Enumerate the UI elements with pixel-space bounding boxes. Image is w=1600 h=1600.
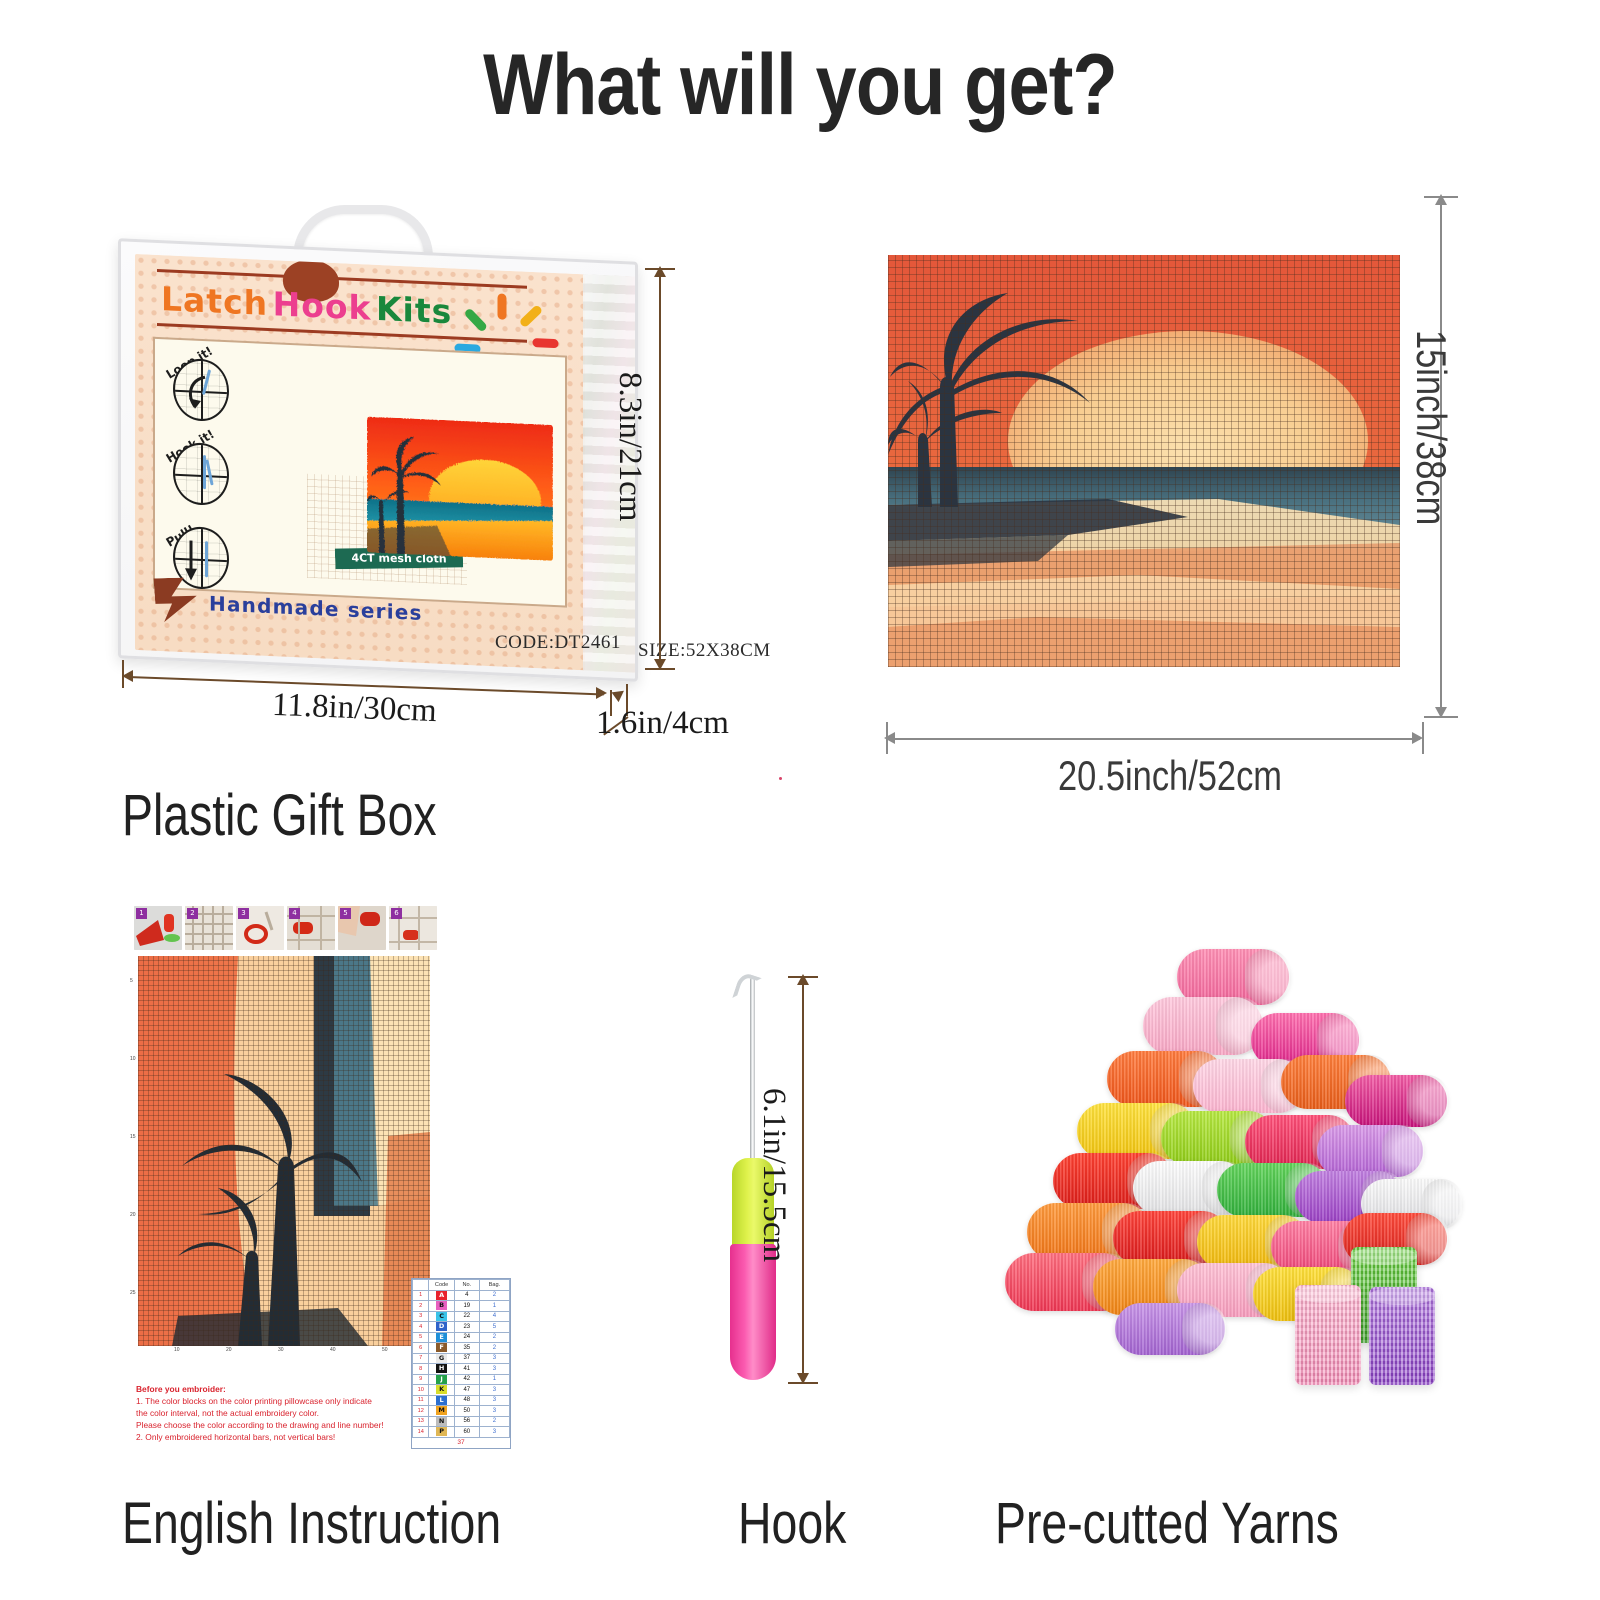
legend-cell-bag: 2 <box>479 1343 509 1354</box>
pinwheel-logo-icon <box>471 287 533 352</box>
legend-color-swatch: L <box>436 1396 447 1405</box>
hook-arrow-up <box>797 974 809 985</box>
thumbnail-badge: 6 <box>391 908 402 919</box>
thumbnail-badge: 1 <box>136 908 147 919</box>
infographic-page: What will you get? Latch Hook Kits <box>0 0 1600 1600</box>
step-thumbnail: 5 <box>338 906 386 950</box>
legend-cell-no: 4 <box>454 1290 479 1301</box>
legend-cell-bag: 1 <box>479 1301 509 1312</box>
before-you-embroider-note: Before you embroider: 1. The color block… <box>136 1384 436 1444</box>
legend-color-swatch: C <box>436 1312 447 1321</box>
legend-color-swatch: A <box>436 1291 447 1300</box>
canvas-height-arrow-down <box>1435 707 1447 718</box>
yarn-standing-bundle <box>1369 1287 1435 1385</box>
box-front-panel: Latch Hook Kits Loop it! <box>135 254 585 670</box>
legend-cell-no: 22 <box>454 1311 479 1322</box>
legend-color-swatch: M <box>436 1406 447 1415</box>
box-height-arrow-down <box>654 659 666 670</box>
step-thumbnail: 3 <box>236 906 284 950</box>
legend-row: 5E242 <box>413 1332 510 1343</box>
box-body: Latch Hook Kits Loop it! <box>118 238 638 682</box>
legend-header-row: Code No. Bag. <box>413 1280 510 1291</box>
legend-color-swatch: F <box>436 1343 447 1352</box>
legend-cell-code: H <box>429 1364 454 1375</box>
step-diagram-hook <box>173 442 229 507</box>
legend-cell-bag: 4 <box>479 1311 509 1322</box>
legend-cell-index: 9 <box>413 1374 429 1385</box>
legend-header-no: No. <box>454 1280 479 1291</box>
hook-handle-grip <box>730 1244 776 1380</box>
gift-box-illustration: Latch Hook Kits Loop it! <box>118 205 638 695</box>
legend-color-swatch: D <box>436 1322 447 1331</box>
legend-cell-index: 4 <box>413 1322 429 1333</box>
legend-cell-bag: 5 <box>479 1322 509 1333</box>
legend-cell-code: F <box>429 1343 454 1354</box>
legend-header-code: Code <box>429 1280 454 1291</box>
legend-cell-no: 41 <box>454 1364 479 1375</box>
caption-pre-cutted-yarns: Pre-cutted Yarns <box>995 1490 1339 1557</box>
box-height-dimension: 8.3in/21cm <box>611 372 648 521</box>
legend-cell-bag: 3 <box>479 1385 509 1396</box>
legend-color-swatch: G <box>436 1354 447 1363</box>
box-height-rule <box>659 272 661 666</box>
pattern-chart-gridlines <box>138 956 430 1346</box>
pre-cutted-yarns-pile <box>965 935 1485 1395</box>
legend-row: 1A42 <box>413 1290 510 1301</box>
legend-cell-index: 8 <box>413 1364 429 1375</box>
hook-length-dimension: 6.1in/15.5cm <box>755 1088 792 1262</box>
legend-cell-no: 56 <box>454 1416 479 1427</box>
legend-row: 8H413 <box>413 1364 510 1375</box>
rug-preview-image <box>367 417 553 561</box>
legend-cell-no: 50 <box>454 1406 479 1417</box>
hook-barb-icon <box>732 971 762 1004</box>
yarn-standing-bundle <box>1295 1285 1361 1385</box>
legend-cell-no: 37 <box>454 1353 479 1364</box>
legend-cell-index: 5 <box>413 1332 429 1343</box>
legend-cell-index: 2 <box>413 1301 429 1312</box>
chart-ruler-bottom: 10 20 30 40 50 <box>138 1346 430 1356</box>
thumbnail-badge: 2 <box>187 908 198 919</box>
canvas-height-arrow-up <box>1435 194 1447 205</box>
legend-color-swatch: B <box>436 1301 447 1310</box>
brand-word-kits: Kits <box>376 289 452 331</box>
before-line: 2. Only embroidered horizontal bars, not… <box>136 1432 436 1444</box>
thumbnail-badge: 4 <box>289 908 300 919</box>
legend-cell-bag: 1 <box>479 1374 509 1385</box>
legend-cell-no: 23 <box>454 1322 479 1333</box>
box-width-dimension: 11.8in/30cm <box>271 687 437 730</box>
caption-english-instruction: English Instruction <box>122 1490 501 1557</box>
legend-cell-index: 1 <box>413 1290 429 1301</box>
canvas-width-dimension: 20.5inch/52cm <box>1058 752 1282 800</box>
legend-color-swatch: K <box>436 1385 447 1394</box>
hook-arrow-down <box>797 1373 809 1384</box>
thumbnail-badge: 5 <box>340 908 351 919</box>
legend-cell-no: 48 <box>454 1395 479 1406</box>
canvas-mesh-gridlines <box>888 255 1400 667</box>
legend-cell-bag: 2 <box>479 1332 509 1343</box>
legend-cell-no: 24 <box>454 1332 479 1343</box>
legend-row: 2B191 <box>413 1301 510 1312</box>
legend-cell-no: 47 <box>454 1385 479 1396</box>
legend-cell-code: J <box>429 1374 454 1385</box>
before-line: the color interval, not the actual embro… <box>136 1408 436 1420</box>
legend-cell-code: G <box>429 1353 454 1364</box>
legend-cell-code: A <box>429 1290 454 1301</box>
legend-cell-code: D <box>429 1322 454 1333</box>
legend-color-swatch: H <box>436 1364 447 1373</box>
legend-cell-code: E <box>429 1332 454 1343</box>
yarn-bundle <box>1115 1303 1225 1355</box>
caption-hook: Hook <box>738 1490 846 1557</box>
zigzag-icon <box>154 577 199 622</box>
stray-speck <box>779 777 782 780</box>
step-thumbnail: 2 <box>185 906 233 950</box>
legend-cell-index: 6 <box>413 1343 429 1354</box>
box-code-label: CODE:DT2461 <box>495 632 621 654</box>
handmade-series-label: Handmade series <box>209 591 423 625</box>
chart-ruler-left: 5 10 15 20 25 <box>130 956 138 1346</box>
pattern-chart: 5 10 15 20 25 10 20 30 40 50 <box>138 956 430 1346</box>
before-line: Please choose the color according to the… <box>136 1420 436 1432</box>
box-width-arrow-left <box>122 670 133 682</box>
legend-cell-bag: 3 <box>479 1353 509 1364</box>
canvas-width-arrow-left <box>884 732 895 744</box>
legend-cell-no: 35 <box>454 1343 479 1354</box>
box-width-arrow-right <box>596 687 607 699</box>
legend-row: 9J421 <box>413 1374 510 1385</box>
caption-gift-box: Plastic Gift Box <box>122 782 437 849</box>
legend-cell-index: 3 <box>413 1311 429 1322</box>
legend-color-swatch: N <box>436 1417 447 1426</box>
legend-cell-bag: 2 <box>479 1290 509 1301</box>
legend-row: 7G373 <box>413 1353 510 1364</box>
legend-cell-bag: 3 <box>479 1427 509 1438</box>
legend-header-index <box>413 1280 429 1291</box>
step-thumbnail: 6 <box>389 906 437 950</box>
page-title: What will you get? <box>112 36 1488 135</box>
legend-cell-bag: 3 <box>479 1364 509 1375</box>
legend-cell-bag: 3 <box>479 1406 509 1417</box>
legend-cell-no: 19 <box>454 1301 479 1312</box>
thumbnail-badge: 3 <box>238 908 249 919</box>
legend-color-swatch: J <box>436 1375 447 1384</box>
step-thumbnail: 4 <box>287 906 335 950</box>
legend-cell-code: B <box>429 1301 454 1312</box>
yarn-bundle <box>1143 997 1263 1055</box>
before-line: 1. The color blocks on the color printin… <box>136 1396 436 1408</box>
instruction-card: Loop it! Hook it! <box>153 337 567 608</box>
legend-cell-code: C <box>429 1311 454 1322</box>
english-instruction-sheet: 1 2 3 4 <box>128 906 438 1466</box>
canvas-width-arrow-right <box>1412 732 1423 744</box>
legend-cell-index: 7 <box>413 1353 429 1364</box>
legend-row: 6F352 <box>413 1343 510 1354</box>
legend-cell-bag: 2 <box>479 1416 509 1427</box>
brand-word-hook: Hook <box>273 284 372 327</box>
legend-row: 4D235 <box>413 1322 510 1333</box>
brand-word-latch: Latch <box>161 279 268 323</box>
yarn-bundle <box>1345 1075 1447 1127</box>
legend-cell-no: 42 <box>454 1374 479 1385</box>
legend-row: 3C224 <box>413 1311 510 1322</box>
box-height-arrow-up <box>654 266 666 277</box>
legend-cell-bag: 3 <box>479 1395 509 1406</box>
legend-color-swatch: E <box>436 1333 447 1342</box>
step-thumbnail-strip: 1 2 3 4 <box>134 906 444 950</box>
printed-canvas-image <box>888 255 1400 667</box>
step-thumbnail: 1 <box>134 906 182 950</box>
hook-length-rule <box>802 980 804 1380</box>
legend-header-bag: Bag. <box>479 1280 509 1291</box>
before-heading: Before you embroider: <box>136 1384 436 1396</box>
step-diagram-loop <box>173 358 229 423</box>
yarn-bundle <box>1317 1125 1423 1177</box>
box-depth-dimension: 1.6in/4cm <box>596 705 729 742</box>
canvas-height-dimension: 15inch/38cm <box>1407 330 1455 525</box>
legend-cell-no: 60 <box>454 1427 479 1438</box>
legend-color-swatch: P <box>436 1427 447 1436</box>
canvas-width-rule <box>890 738 1420 740</box>
